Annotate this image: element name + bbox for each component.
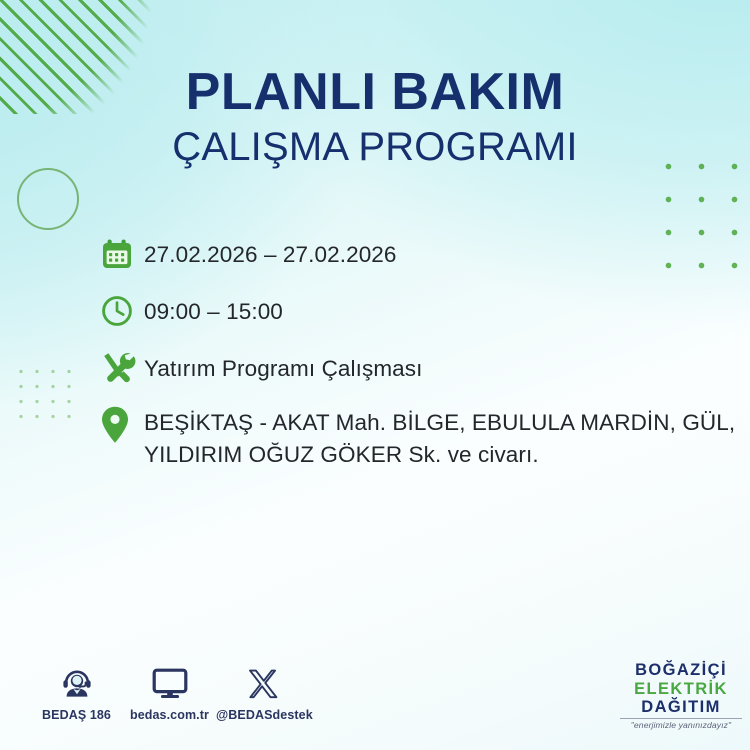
detail-row-time: 09:00 – 15:00 — [100, 291, 740, 331]
brand-logo: BOĞAZİÇİ ELEKTRİK DAĞITIM "enerjimizle y… — [620, 662, 742, 729]
planned-maintenance-poster: PLANLI BAKIM ÇALIŞMA PROGRAMI — [0, 0, 750, 750]
contact-x-label: @BEDASdestek — [216, 708, 309, 722]
title-primary: PLANLI BAKIM — [0, 66, 750, 118]
circle-outline-decoration — [17, 168, 79, 230]
clock-icon — [100, 291, 144, 331]
title-secondary: ÇALIŞMA PROGRAMI — [0, 124, 750, 170]
brand-tagline: "enerjimizle yanınızdayız" — [620, 718, 742, 730]
brand-line-2: ELEKTRİK — [620, 681, 742, 698]
detail-row-location: BEŞİKTAŞ - AKAT Mah. BİLGE, EBULULA MARD… — [100, 405, 740, 471]
detail-row-worktype: Yatırım Programı Çalışması — [100, 348, 740, 388]
detail-row-date: 27.02.2026 – 27.02.2026 — [100, 234, 740, 274]
detail-location-text: BEŞİKTAŞ - AKAT Mah. BİLGE, EBULULA MARD… — [144, 405, 740, 471]
brand-line-1: BOĞAZİÇİ — [620, 662, 742, 679]
contact-website[interactable]: bedas.com.tr — [123, 663, 216, 722]
detail-date-text: 27.02.2026 – 27.02.2026 — [144, 234, 740, 271]
calendar-icon — [100, 234, 144, 274]
dot-grid-left-decoration — [12, 363, 74, 425]
contact-website-label: bedas.com.tr — [123, 708, 216, 722]
contact-x-account[interactable]: @BEDASdestek — [216, 663, 309, 722]
page-title: PLANLI BAKIM ÇALIŞMA PROGRAMI — [0, 66, 750, 170]
footer-contacts: BEDAŞ 186 bedas.com.tr @BEDASdestek — [30, 663, 330, 722]
support-agent-icon — [30, 663, 123, 705]
contact-phone[interactable]: BEDAŞ 186 — [30, 663, 123, 722]
location-pin-icon — [100, 405, 144, 445]
x-twitter-icon — [216, 663, 309, 705]
monitor-icon — [123, 663, 216, 705]
detail-worktype-text: Yatırım Programı Çalışması — [144, 348, 740, 385]
tools-icon — [100, 348, 144, 388]
contact-phone-label: BEDAŞ 186 — [30, 708, 123, 722]
detail-time-text: 09:00 – 15:00 — [144, 291, 740, 328]
brand-line-3: DAĞITIM — [620, 699, 742, 716]
maintenance-details-list: 27.02.2026 – 27.02.2026 09:00 – 15:00 — [100, 234, 740, 471]
